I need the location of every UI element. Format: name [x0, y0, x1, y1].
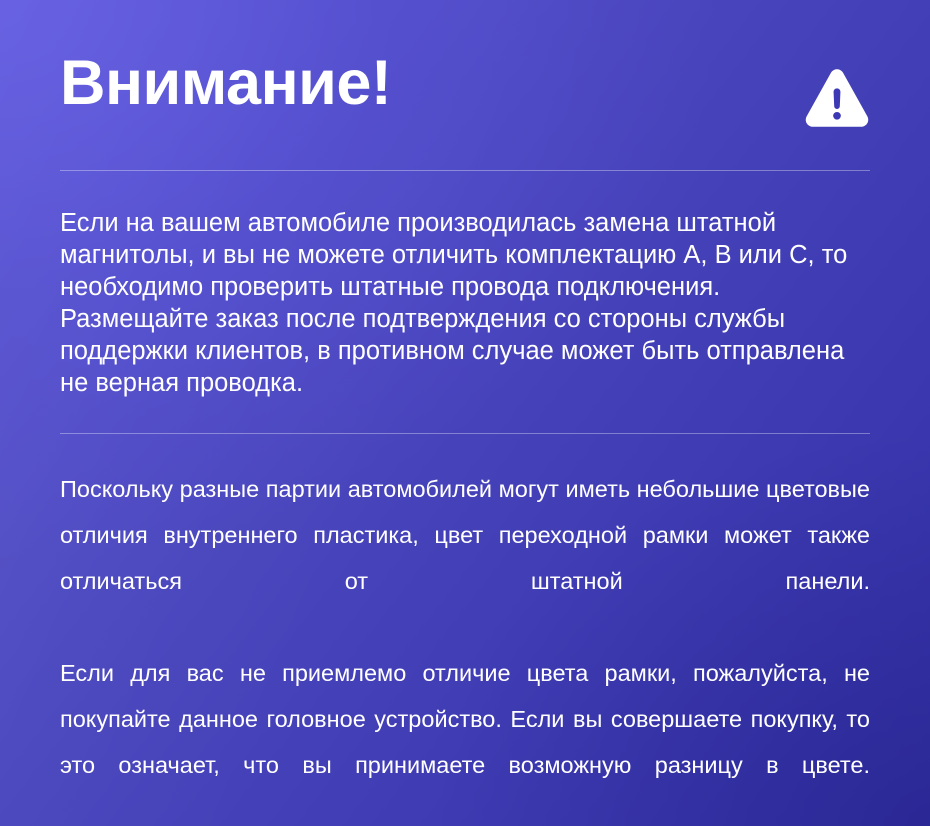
warning-banner: Внимание! Если на вашем автомобиле произ… — [0, 0, 930, 826]
section-color-difference: Поскольку разные партии автомобилей могу… — [60, 434, 870, 826]
wiring-warning-paragraph: Если на вашем автомобиле производилась з… — [60, 207, 860, 399]
banner-header: Внимание! — [60, 0, 870, 170]
color-difference-paragraph-2: Если для вас не приемлемо отличие цвета … — [60, 650, 870, 826]
section-wiring-warning: Если на вашем автомобиле производилась з… — [60, 171, 870, 405]
color-difference-paragraph-1: Поскольку разные партии автомобилей могу… — [60, 466, 870, 650]
warning-triangle-icon — [804, 66, 870, 132]
page-title: Внимание! — [60, 52, 391, 115]
banner-content: Внимание! Если на вашем автомобиле произ… — [0, 0, 930, 826]
